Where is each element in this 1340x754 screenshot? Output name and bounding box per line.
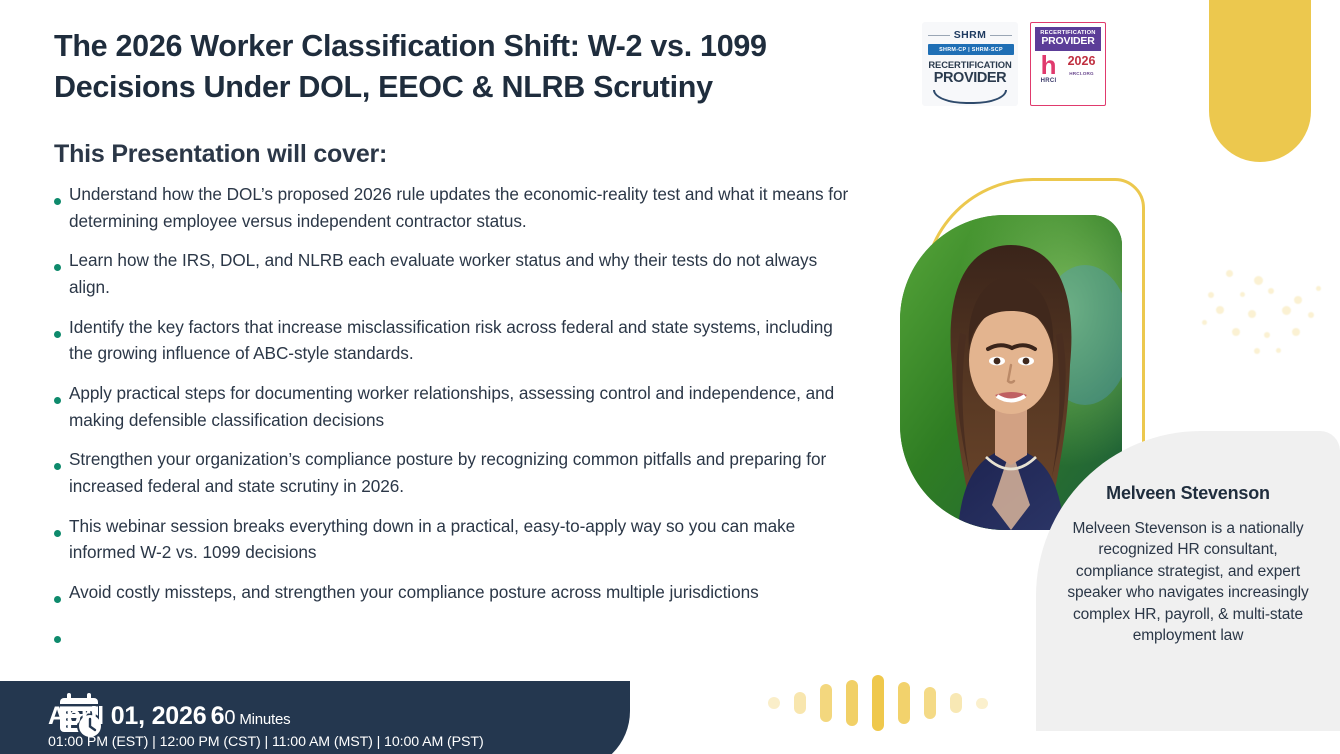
speaker-bio-text: Melveen Stevenson is a nationally recogn… (1060, 518, 1316, 646)
soundwave-bar (950, 693, 962, 713)
list-item-label: Learn how the IRS, DOL, and NLRB each ev… (69, 250, 817, 297)
event-datetime-block: April 01, 2026 60Minutes 01:00 PM (EST) … (48, 702, 484, 751)
list-item: This webinar session breaks everything d… (54, 513, 854, 566)
decorative-dot (1268, 288, 1274, 294)
list-item (54, 619, 854, 641)
decorative-dot (1308, 312, 1314, 318)
event-timezones: 01:00 PM (EST) | 12:00 PM (CST) | 11:00 … (48, 734, 484, 750)
speaker-name: Melveen Stevenson (1060, 483, 1316, 504)
presentation-topics-list: Understand how the DOL’s proposed 2026 r… (54, 181, 854, 654)
decorative-dot (1292, 328, 1300, 336)
list-item: Apply practical steps for documenting wo… (54, 380, 854, 433)
decorative-dot (1316, 286, 1321, 291)
certification-badges: SHRM SHRM-CP | SHRM-SCP RECERTIFICATION … (922, 22, 1106, 106)
page-title: The 2026 Worker Classification Shift: W-… (54, 26, 854, 108)
shrm-rule-left (928, 35, 950, 36)
event-duration-number: 6 (211, 702, 225, 730)
decorative-dot (1208, 292, 1214, 298)
shrm-shield-icon (933, 90, 1007, 104)
event-date-line: April 01, 2026 60Minutes (48, 702, 484, 731)
decorative-dot (1294, 296, 1302, 304)
list-item-label: Apply practical steps for documenting wo… (69, 383, 834, 430)
hrci-badge-header: RECERTIFICATION PROVIDER (1035, 27, 1101, 51)
section-subheading: This Presentation will cover: (54, 140, 387, 169)
hrci-recertification-provider-badge: RECERTIFICATION PROVIDER h HRCI 2026 HRC… (1030, 22, 1106, 106)
bullet-dot-icon (54, 397, 61, 404)
soundwave-bar (846, 680, 858, 726)
bullet-dot-icon (54, 264, 61, 271)
hrci-year-label: 2026 (1068, 55, 1096, 68)
hrci-domain-label: HRCI.ORG (1068, 71, 1096, 76)
shrm-recertification-provider-badge: SHRM SHRM-CP | SHRM-SCP RECERTIFICATION … (922, 22, 1018, 106)
soundwave-bar (976, 698, 988, 709)
shrm-credentials-label: SHRM-CP | SHRM-SCP (928, 44, 1014, 55)
soundwave-bar (872, 675, 884, 731)
decorative-dot (1216, 306, 1224, 314)
decorative-dot (1282, 306, 1291, 315)
list-item-label: Avoid costly missteps, and strengthen yo… (69, 582, 759, 602)
event-duration-rest: 0 (224, 707, 235, 729)
list-item-label: Strengthen your organization’s complianc… (69, 449, 826, 496)
soundwave-bar (924, 687, 936, 719)
decorative-dot (1240, 292, 1245, 297)
list-item: Identify the key factors that increase m… (54, 314, 854, 367)
dot-pattern-decoration (1196, 262, 1326, 357)
decorative-dot (1226, 270, 1233, 277)
shrm-org-label: SHRM (954, 29, 987, 41)
hrci-org-label: HRCI (1041, 78, 1057, 84)
bullet-dot-icon (54, 198, 61, 205)
list-item-label: Identify the key factors that increase m… (69, 317, 833, 364)
soundwave-decoration (768, 672, 988, 734)
bullet-dot-icon (54, 530, 61, 537)
soundwave-bar (820, 684, 832, 722)
hrci-h-mark-icon: h (1041, 55, 1057, 76)
list-item: Learn how the IRS, DOL, and NLRB each ev… (54, 247, 854, 300)
decorative-dot (1232, 328, 1240, 336)
yellow-pill-decoration (1209, 0, 1311, 162)
shrm-badge-header: SHRM (928, 29, 1012, 41)
decorative-dot (1202, 320, 1207, 325)
hrci-provider-label: PROVIDER (1035, 36, 1101, 47)
hrci-year-block: 2026 HRCI.ORG (1068, 55, 1096, 76)
list-item: Understand how the DOL’s proposed 2026 r… (54, 181, 854, 234)
hrci-badge-body: h HRCI 2026 HRCI.ORG (1035, 55, 1101, 84)
list-item: Strengthen your organization’s complianc… (54, 446, 854, 499)
list-item: Avoid costly missteps, and strengthen yo… (54, 579, 854, 606)
shrm-recertification-label: RECERTIFICATION (928, 59, 1012, 70)
webinar-promo-slide: SHRM SHRM-CP | SHRM-SCP RECERTIFICATION … (0, 0, 1340, 754)
list-item-label: This webinar session breaks everything d… (69, 516, 795, 563)
shrm-rule-right (990, 35, 1012, 36)
decorative-dot (1264, 332, 1270, 338)
list-item-label: Understand how the DOL’s proposed 2026 r… (69, 184, 848, 231)
decorative-dot (1276, 348, 1281, 353)
decorative-dot (1248, 310, 1256, 318)
event-date: April 01, 2026 (48, 702, 206, 730)
soundwave-bar (794, 692, 806, 714)
event-duration-label: Minutes (239, 711, 290, 728)
soundwave-bar (768, 697, 780, 709)
soundwave-bar (898, 682, 910, 724)
shrm-provider-label: PROVIDER (928, 71, 1012, 86)
bullet-dot-icon (54, 596, 61, 603)
bullet-dot-icon (54, 636, 61, 643)
hrci-logo-block: h HRCI (1041, 55, 1057, 84)
decorative-dot (1254, 276, 1263, 285)
decorative-dot (1254, 348, 1260, 354)
bullet-dot-icon (54, 463, 61, 470)
bullet-dot-icon (54, 331, 61, 338)
